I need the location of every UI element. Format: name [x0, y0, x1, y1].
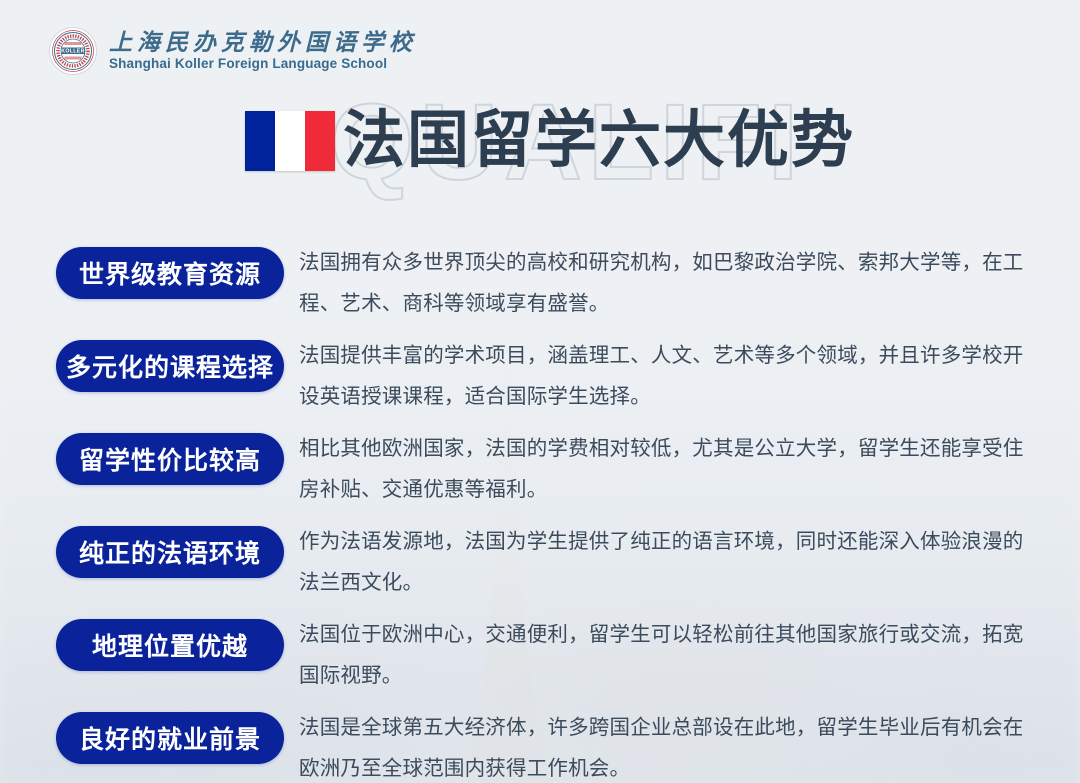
- feature-desc-1: 法国拥有众多世界顶尖的高校和研究机构，如巴黎政治学院、索邦大学等，在工程、艺术、…: [299, 238, 1034, 324]
- brand-lockup: KOLLER 上海民办克勒外国语学校 Shanghai Koller Forei…: [48, 26, 417, 76]
- feature-desc-6: 法国是全球第五大经济体，许多跨国企业总部设在此地，留学生毕业后有机会在欧洲乃至全…: [299, 703, 1034, 783]
- svg-text:KOLLER: KOLLER: [61, 49, 84, 55]
- feature-list: 世界级教育资源 法国拥有众多世界顶尖的高校和研究机构，如巴黎政治学院、索邦大学等…: [56, 238, 1034, 783]
- feature-desc-4: 作为法语发源地，法国为学生提供了纯正的语言环境，同时还能深入体验浪漫的法兰西文化…: [299, 517, 1034, 603]
- list-item: 良好的就业前景 法国是全球第五大经济体，许多跨国企业总部设在此地，留学生毕业后有…: [56, 703, 1034, 783]
- feature-desc-5: 法国位于欧洲中心，交通便利，留学生可以轻松前往其他国家旅行或交流，拓宽国际视野。: [299, 610, 1034, 696]
- list-item: 地理位置优越 法国位于欧洲中心，交通便利，留学生可以轻松前往其他国家旅行或交流，…: [56, 610, 1034, 696]
- france-flag-icon: [245, 111, 335, 171]
- feature-badge-6: 良好的就业前景: [56, 712, 284, 764]
- feature-badge-3: 留学性价比较高: [56, 433, 284, 485]
- brand-name-block: 上海民办克勒外国语学校 Shanghai Koller Foreign Lang…: [109, 30, 417, 72]
- brand-name-cn: 上海民办克勒外国语学校: [109, 30, 417, 56]
- list-item: 留学性价比较高 相比其他欧洲国家，法国的学费相对较低，尤其是公立大学，留学生还能…: [56, 424, 1034, 510]
- feature-badge-2: 多元化的课程选择: [56, 340, 284, 392]
- list-item: 世界级教育资源 法国拥有众多世界顶尖的高校和研究机构，如巴黎政治学院、索邦大学等…: [56, 238, 1034, 324]
- feature-badge-4: 纯正的法语环境: [56, 526, 284, 578]
- brand-name-en: Shanghai Koller Foreign Language School: [109, 57, 417, 72]
- poster-canvas: QUALIFI KOLLER 上海民办克勒外国语学校 Shanghai Koll…: [0, 0, 1080, 783]
- list-item: 纯正的法语环境 作为法语发源地，法国为学生提供了纯正的语言环境，同时还能深入体验…: [56, 517, 1034, 603]
- feature-badge-5: 地理位置优越: [56, 619, 284, 671]
- feature-desc-3: 相比其他欧洲国家，法国的学费相对较低，尤其是公立大学，留学生还能享受住房补贴、交…: [299, 424, 1034, 510]
- koller-seal-icon: KOLLER: [48, 26, 98, 76]
- feature-badge-1: 世界级教育资源: [56, 247, 284, 299]
- feature-desc-2: 法国提供丰富的学术项目，涵盖理工、人文、艺术等多个领域，并且许多学校开设英语授课…: [299, 331, 1034, 417]
- page-title: 法国留学六大优势: [343, 110, 855, 172]
- list-item: 多元化的课程选择 法国提供丰富的学术项目，涵盖理工、人文、艺术等多个领域，并且许…: [56, 331, 1034, 417]
- title-row: 法国留学六大优势: [245, 110, 855, 172]
